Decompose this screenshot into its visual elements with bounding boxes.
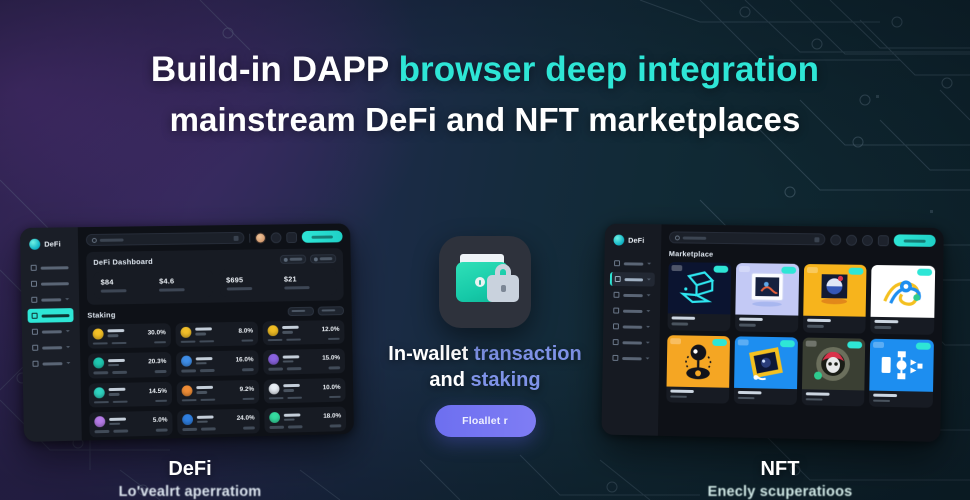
defi-caption-subtitle: Lo'vealrt aperratiom: [60, 484, 320, 500]
nft-meta: [802, 316, 865, 334]
nft-sidebar: DeFi: [601, 224, 661, 436]
sidebar-item-featured[interactable]: [610, 272, 655, 286]
search-input[interactable]: [669, 231, 825, 245]
nft-subtitle: [807, 325, 824, 328]
nft-badge: [781, 267, 796, 274]
nft-meta: [869, 390, 933, 408]
nft-meta: [801, 389, 864, 407]
nft-subtitle: [875, 326, 892, 329]
nft-tag: [737, 339, 748, 345]
nft-caption-title: NFT: [650, 458, 910, 481]
nft-caption-subtitle: Enecly scuperatioos: [650, 484, 910, 500]
nft-card[interactable]: [735, 263, 799, 332]
nft-title: [805, 392, 829, 395]
nft-subtitle: [671, 322, 688, 325]
sidebar-item-label: [623, 293, 643, 296]
nft-artwork: [668, 262, 731, 314]
nft-subtitle: [738, 396, 755, 399]
help-icon[interactable]: [862, 234, 873, 245]
nft-card[interactable]: [734, 336, 798, 405]
nft-meta: [871, 317, 935, 335]
screenshot-root: Build-in DAPP browser deep integration m…: [0, 0, 970, 500]
nft-title: [875, 320, 899, 323]
chevron-down-icon: [646, 310, 650, 312]
notification-icon[interactable]: [846, 234, 857, 245]
wallet-cta-button[interactable]: Floallet r: [435, 405, 536, 437]
nft-subtitle: [873, 399, 890, 402]
defi-caption-title: DeFi: [60, 458, 320, 481]
my-assets-icon: [613, 339, 619, 345]
nft-artwork: [871, 265, 935, 318]
sidebar-item-activity[interactable]: [610, 288, 655, 303]
nft-card[interactable]: [801, 337, 865, 406]
center-heading-blue-1: transaction: [474, 343, 582, 365]
nft-title: [873, 393, 897, 396]
nft-tag: [873, 341, 884, 347]
nft-caption: NFT Enecly scuperatioos: [650, 458, 910, 500]
nft-brand: DeFi: [609, 232, 656, 255]
nft-grid: [666, 262, 935, 408]
nft-artwork: [735, 263, 799, 316]
wallet-lock-icon: [439, 236, 531, 328]
lock-keyhole-icon: [501, 285, 506, 292]
brand-logo-icon: [613, 235, 624, 246]
nft-badge: [712, 338, 727, 345]
nft-topbar: [669, 231, 936, 247]
nft-card[interactable]: [668, 262, 732, 331]
nft-artwork: [801, 337, 865, 390]
nft-meta: [666, 386, 729, 404]
featured-icon: [615, 276, 621, 282]
brand-label: DeFi: [628, 236, 644, 245]
nft-tag: [806, 267, 817, 273]
nft-badge: [917, 269, 932, 276]
center-heading-white-2: and: [429, 369, 470, 391]
nft-title: [807, 319, 831, 322]
chevron-down-icon: [647, 263, 651, 265]
sales-event-icon: [613, 323, 619, 329]
sidebar-item-label: [623, 309, 643, 312]
nft-meta: [734, 387, 797, 405]
nft-artwork: [667, 335, 730, 388]
nft-marketplace-panel[interactable]: DeFi: [601, 224, 943, 442]
headline: Build-in DAPP browser deep integration m…: [0, 52, 970, 138]
activity-icon: [614, 292, 620, 298]
nft-badge: [713, 266, 728, 273]
nft-subtitle: [670, 395, 687, 398]
sidebar-item-my-assets[interactable]: [609, 335, 654, 350]
center-heading-white-1: In-wallet: [388, 343, 474, 365]
sidebar-item-discover[interactable]: [610, 256, 655, 270]
headline-line1-accent: browser deep integration: [399, 50, 820, 89]
nft-card[interactable]: [802, 264, 866, 333]
nft-tag: [671, 265, 682, 271]
nft-meta: [668, 313, 731, 330]
transfers-icon: [612, 355, 618, 361]
sidebar-item-sales-event[interactable]: [609, 319, 654, 334]
nft-card[interactable]: [871, 265, 936, 334]
nft-title: [670, 389, 694, 392]
nft-tag: [805, 340, 816, 346]
sidebar-item-label: [623, 325, 643, 328]
sidebar-item-label: [622, 341, 642, 344]
wallet-cta-label: Floallet r: [462, 415, 508, 427]
nft-title: [738, 390, 762, 393]
search-icon: [675, 235, 680, 240]
nft-subtitle: [805, 398, 822, 401]
wallet-clasp-icon: [475, 277, 485, 287]
search-filter-icon[interactable]: [814, 237, 819, 242]
center-heading-blue-2: staking: [471, 369, 541, 391]
connect-button[interactable]: [894, 234, 936, 247]
chevron-down-icon: [646, 357, 650, 359]
chevron-down-icon: [647, 294, 651, 296]
nft-subtitle: [739, 324, 756, 327]
grid-view-icon[interactable]: [830, 234, 841, 245]
defi-caption: DeFi Lo'vealrt aperratiom: [60, 458, 320, 500]
page-title: Marketplace: [669, 249, 936, 262]
sidebar-item-label: [622, 357, 642, 360]
nft-badge: [916, 342, 931, 349]
nft-badge: [780, 340, 795, 347]
sidebar-item-label: [624, 262, 644, 265]
nft-artwork: [870, 338, 934, 391]
nft-title: [739, 318, 763, 321]
sidebar-item-label: [625, 278, 644, 281]
chevron-down-icon: [646, 326, 650, 328]
chevron-down-icon: [647, 278, 651, 280]
headline-line1-white: Build-in DAPP: [151, 50, 399, 89]
nft-title: [672, 316, 696, 319]
search-placeholder: [683, 236, 707, 239]
nft-meta: [735, 315, 798, 332]
nft-tag: [670, 338, 681, 344]
sidebar-item-investment[interactable]: [609, 304, 654, 319]
chevron-down-icon: [646, 342, 650, 344]
nft-artwork: [734, 336, 798, 389]
nft-tag: [739, 266, 750, 272]
headline-line2: mainstream DeFi and NFT marketplaces: [0, 103, 970, 137]
nft-card[interactable]: [666, 335, 730, 404]
nft-badge: [847, 341, 862, 348]
nft-artwork: [803, 264, 867, 317]
discover-icon: [614, 260, 620, 266]
settings-icon[interactable]: [878, 235, 889, 246]
sidebar-item-transfers[interactable]: [608, 351, 653, 366]
nft-card[interactable]: [869, 338, 934, 408]
investment-icon: [613, 308, 619, 314]
nft-badge: [849, 268, 864, 275]
nft-tag: [875, 268, 886, 274]
nft-content: Marketplace: [658, 224, 944, 442]
